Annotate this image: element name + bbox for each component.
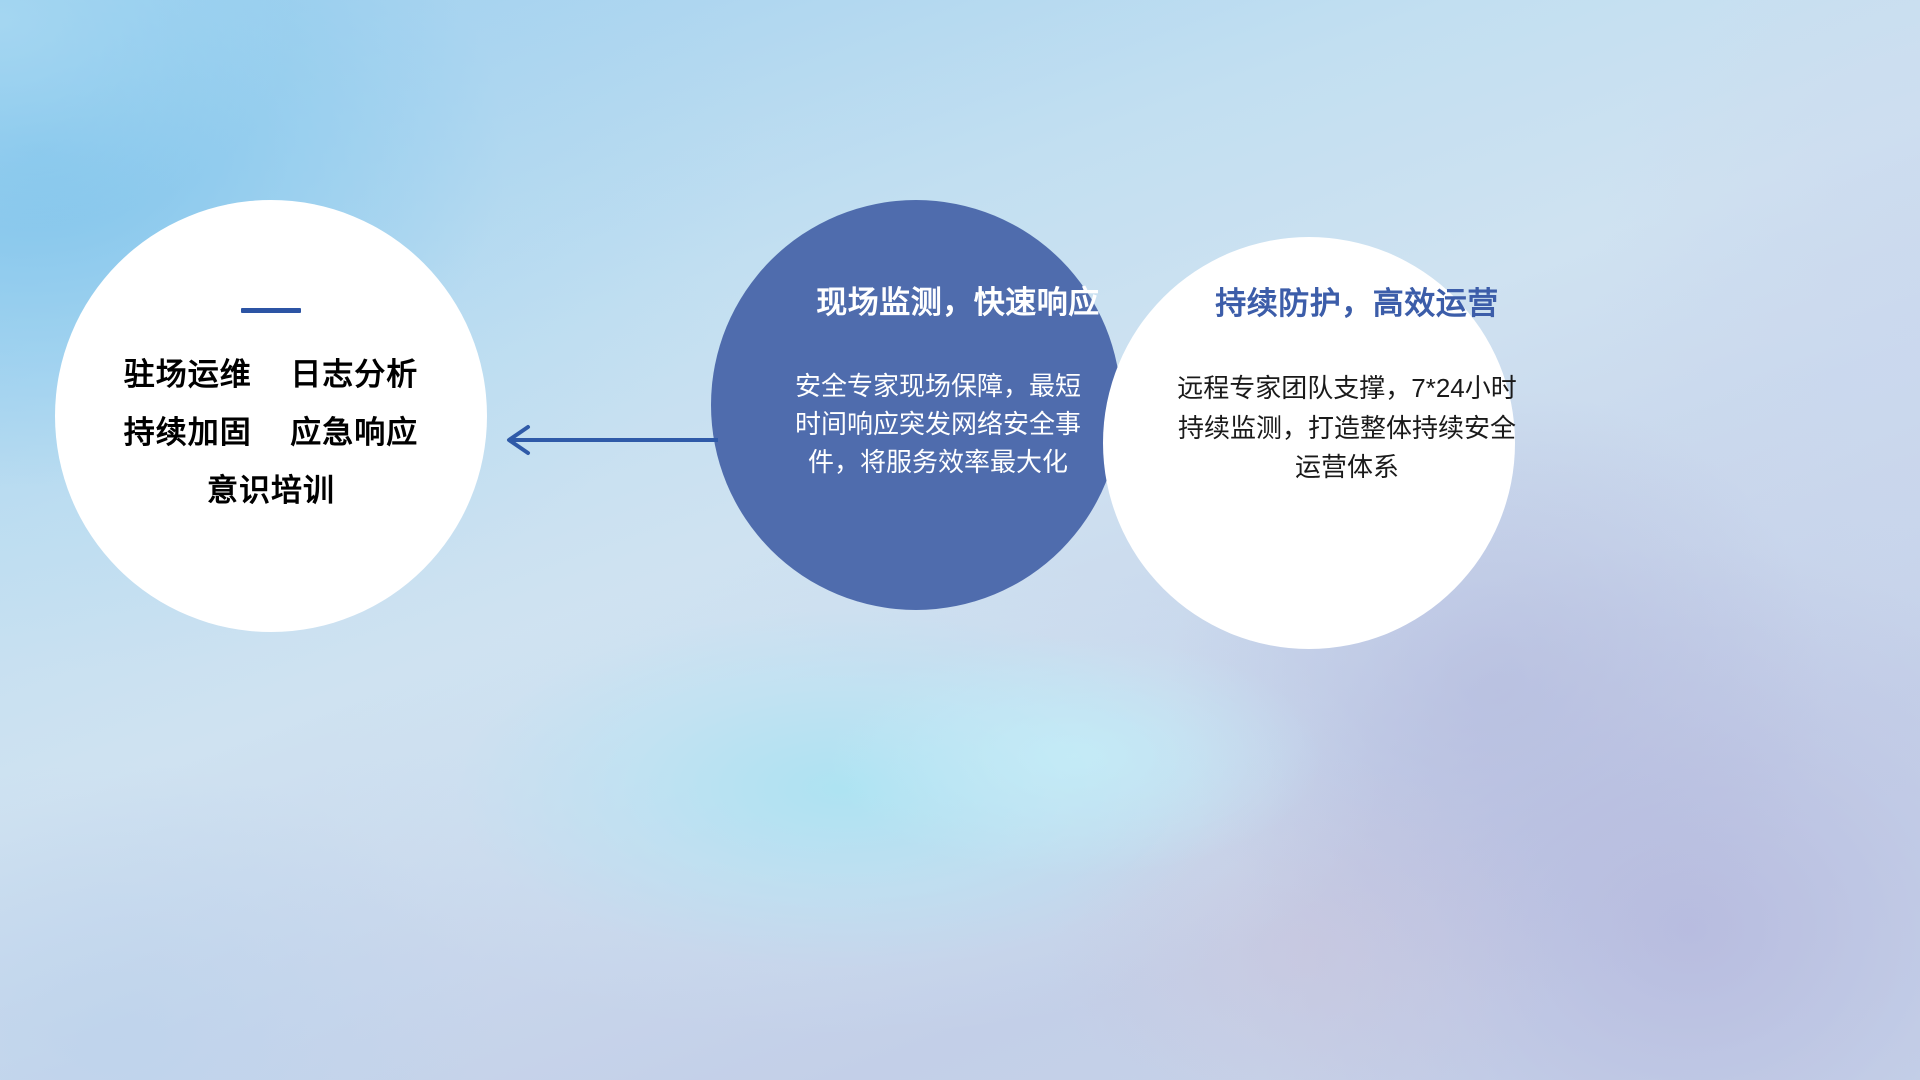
middle-circle-body: 安全专家现场保障，最短时间响应突发网络安全事件，将服务效率最大化 <box>788 368 1088 482</box>
left-circle-line-1: 驻场运维 日志分析 <box>124 359 418 390</box>
arrow-left-icon <box>490 414 720 466</box>
left-circle-line-2: 持续加固 应急响应 <box>124 417 418 448</box>
right-circle-body: 远程专家团队支撑，7*24小时持续监测，打造整体持续安全运营体系 <box>1177 369 1517 488</box>
left-circle-line-3: 意识培训 <box>207 475 335 506</box>
right-circle-content: 持续防护，高效运营 远程专家团队支撑，7*24小时持续监测，打造整体持续安全运营… <box>1103 237 1515 649</box>
divider-dash-icon <box>241 308 301 313</box>
left-circle-content: 驻场运维 日志分析 持续加固 应急响应 意识培训 <box>55 200 487 632</box>
middle-circle-content: 现场监测，快速响应 安全专家现场保障，最短时间响应突发网络安全事件，将服务效率最… <box>711 200 1121 610</box>
slide-canvas: 驻场运维 日志分析 持续加固 应急响应 意识培训 现场监测，快速响应 安全专家现… <box>0 0 1920 1080</box>
middle-circle-title: 现场监测，快速响应 <box>816 286 1100 320</box>
right-circle-title: 持续防护，高效运营 <box>1215 287 1499 321</box>
